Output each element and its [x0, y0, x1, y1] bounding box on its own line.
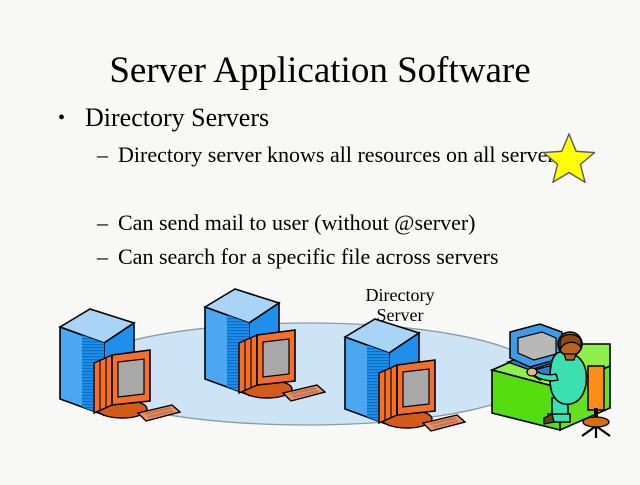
sub-bullet-search: – Can search for a specific file across … — [97, 243, 588, 271]
directory-server-label-line2: Server — [338, 305, 462, 325]
star-icon — [543, 133, 595, 183]
sub-bullet-label: Can send mail to user (without @server) — [118, 209, 588, 237]
slide-canvas: Server Application Software •Directory S… — [0, 0, 640, 480]
directory-server-label: Directory Server — [338, 285, 462, 325]
dash-marker-icon: – — [97, 209, 117, 237]
user-desk — [492, 324, 610, 438]
page-title: Server Application Software — [0, 49, 640, 93]
diagram-graphic — [0, 270, 640, 480]
directory-server-label-line1: Directory — [338, 285, 462, 305]
bullet-directory-servers: •Directory Servers — [58, 103, 269, 133]
bullet-level1-label: Directory Servers — [85, 103, 269, 132]
sub-bullet-label: Can search for a specific file across se… — [118, 243, 588, 271]
sub-bullet-label: Directory server knows all resources on … — [118, 141, 588, 169]
dash-marker-icon: – — [97, 243, 117, 271]
bullet-marker-icon: • — [58, 103, 85, 133]
network-diagram: Directory Server — [0, 270, 640, 480]
sub-bullet-mail: – Can send mail to user (without @server… — [97, 209, 588, 237]
dash-marker-icon: – — [97, 141, 117, 169]
sub-bullet-resources: – Directory server knows all resources o… — [97, 141, 588, 169]
